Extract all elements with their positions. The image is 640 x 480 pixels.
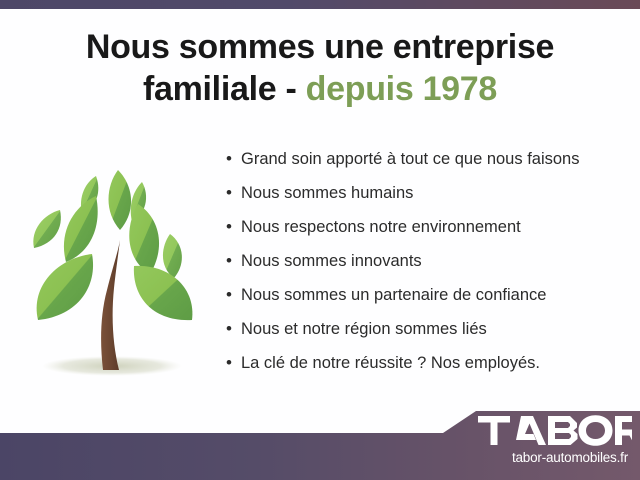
list-item: • Nous sommes un partenaire de confiance xyxy=(226,284,636,318)
bullet-marker-icon: • xyxy=(226,318,241,340)
list-item-label: Nous sommes humains xyxy=(241,182,413,204)
list-item: • Nous sommes innovants xyxy=(226,250,636,284)
brand-logo[interactable]: tabor-automobiles.fr xyxy=(476,414,632,476)
list-item-label: Nous sommes un partenaire de confiance xyxy=(241,284,546,306)
headline-line-1: Nous sommes une entreprise xyxy=(86,28,554,66)
leaf-far-left-small xyxy=(33,210,61,248)
bullet-marker-icon: • xyxy=(226,352,241,374)
slide-canvas: Nous sommes une entreprise familiale - d… xyxy=(0,0,640,480)
list-item-label: Nous respectons notre environnement xyxy=(241,216,521,238)
list-item: • Grand soin apporté à tout ce que nous … xyxy=(226,148,636,182)
top-accent-band xyxy=(0,0,640,9)
headline-accent-since-1978: depuis 1978 xyxy=(306,70,497,108)
tree-trunk xyxy=(101,240,120,370)
logo-wordmark-tabor xyxy=(476,414,632,447)
list-item: • Nous respectons notre environnement xyxy=(226,216,636,250)
bullet-marker-icon: • xyxy=(226,250,241,272)
headline-line-2: familiale - depuis 1978 xyxy=(0,68,640,110)
list-item: • Nous sommes humains xyxy=(226,182,636,216)
leaf-far-right-small xyxy=(163,234,182,278)
leaf-mid-left xyxy=(64,196,98,262)
page-title: Nous sommes une entreprise familiale - d… xyxy=(0,26,640,110)
list-item: • Nous et notre région sommes liés xyxy=(226,318,636,352)
list-item-label: Nous et notre région sommes liés xyxy=(241,318,487,340)
leaf-lower-left xyxy=(37,254,93,320)
bullet-marker-icon: • xyxy=(226,284,241,306)
benefits-list: • Grand soin apporté à tout ce que nous … xyxy=(226,148,636,386)
leaf-lower-right xyxy=(134,266,193,320)
list-item-label: Grand soin apporté à tout ce que nous fa… xyxy=(241,148,579,170)
bullet-marker-icon: • xyxy=(226,216,241,238)
bullet-marker-icon: • xyxy=(226,182,241,204)
bullet-marker-icon: • xyxy=(226,148,241,170)
logo-tagline: tabor-automobiles.fr xyxy=(476,450,628,466)
leaf-mid-right xyxy=(129,204,159,274)
footer-bar: tabor-automobiles.fr xyxy=(0,405,640,480)
leaf-top-center xyxy=(109,170,132,230)
tree-illustration xyxy=(8,148,220,388)
list-item-label: Nous sommes innovants xyxy=(241,250,422,272)
list-item: • La clé de notre réussite ? Nos employé… xyxy=(226,352,636,386)
headline-line-2-main: familiale - xyxy=(143,70,306,108)
list-item-label: La clé de notre réussite ? Nos employés. xyxy=(241,352,540,374)
